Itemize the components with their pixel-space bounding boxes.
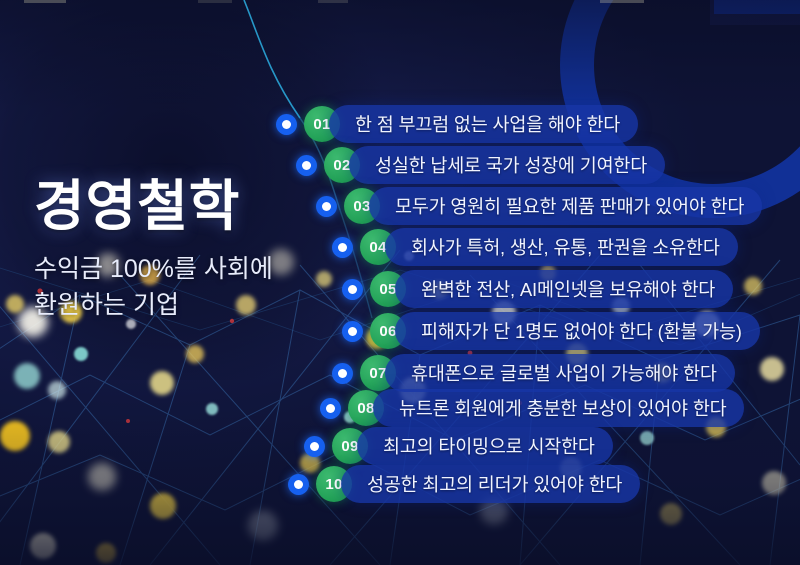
decorative-corner-bar <box>714 0 800 14</box>
subtitle: 수익금 100%를 사회에 환원하는 기업 <box>34 252 334 323</box>
list-item[interactable]: 01 한 점 부끄럼 없는 사업을 해야 한다 <box>276 104 638 144</box>
subtitle-line-2: 환원하는 기업 <box>34 288 334 324</box>
bullet-dot-icon <box>288 474 309 495</box>
page-title: 경영철학 <box>34 178 334 234</box>
bullet-dot-icon <box>296 155 317 176</box>
bullet-dot-icon <box>342 321 363 342</box>
bullet-dot-icon <box>332 237 353 258</box>
bullet-dot-icon <box>304 436 325 457</box>
item-text: 성공한 최고의 리더가 있어야 한다 <box>341 465 640 503</box>
item-text: 한 점 부끄럼 없는 사업을 해야 한다 <box>329 105 638 143</box>
title-block: 경영철학 수익금 100%를 사회에 환원하는 기업 <box>34 178 334 323</box>
bullet-dot-icon <box>342 279 363 300</box>
list-item[interactable]: 05 완벽한 전산, AI메인넷을 보유해야 한다 <box>342 269 733 309</box>
item-text: 성실한 납세로 국가 성장에 기여한다 <box>349 146 665 184</box>
item-text: 휴대폰으로 글로벌 사업이 가능해야 한다 <box>385 354 735 392</box>
list-item[interactable]: 02 성실한 납세로 국가 성장에 기여한다 <box>296 145 665 185</box>
philosophy-poster: 경영철학 수익금 100%를 사회에 환원하는 기업 01 한 점 부끄럼 없는… <box>0 0 800 565</box>
item-text: 뉴트론 회원에게 충분한 보상이 있어야 한다 <box>373 389 744 427</box>
list-item[interactable]: 06 피해자가 단 1명도 없어야 한다 (환불 가능) <box>342 311 760 351</box>
subtitle-line-1: 수익금 100%를 사회에 <box>34 252 334 288</box>
bullet-dot-icon <box>320 398 341 419</box>
item-text: 완벽한 전산, AI메인넷을 보유해야 한다 <box>395 270 733 308</box>
bullet-dot-icon <box>332 363 353 384</box>
list-item[interactable]: 03 모두가 영원히 필요한 제품 판매가 있어야 한다 <box>316 186 762 226</box>
bullet-dot-icon <box>276 114 297 135</box>
list-item[interactable]: 10 성공한 최고의 리더가 있어야 한다 <box>288 464 640 504</box>
bullet-dot-icon <box>316 196 337 217</box>
item-text: 최고의 타이밍으로 시작한다 <box>357 427 613 465</box>
item-text: 피해자가 단 1명도 없어야 한다 (환불 가능) <box>395 312 760 350</box>
list-item[interactable]: 09 최고의 타이밍으로 시작한다 <box>304 426 613 466</box>
list-item[interactable]: 07 휴대폰으로 글로벌 사업이 가능해야 한다 <box>332 353 735 393</box>
list-item[interactable]: 04 회사가 특허, 생산, 유통, 판권을 소유한다 <box>332 227 738 267</box>
list-item[interactable]: 08 뉴트론 회원에게 충분한 보상이 있어야 한다 <box>320 388 744 428</box>
item-text: 모두가 영원히 필요한 제품 판매가 있어야 한다 <box>369 187 762 225</box>
item-text: 회사가 특허, 생산, 유통, 판권을 소유한다 <box>385 228 738 266</box>
